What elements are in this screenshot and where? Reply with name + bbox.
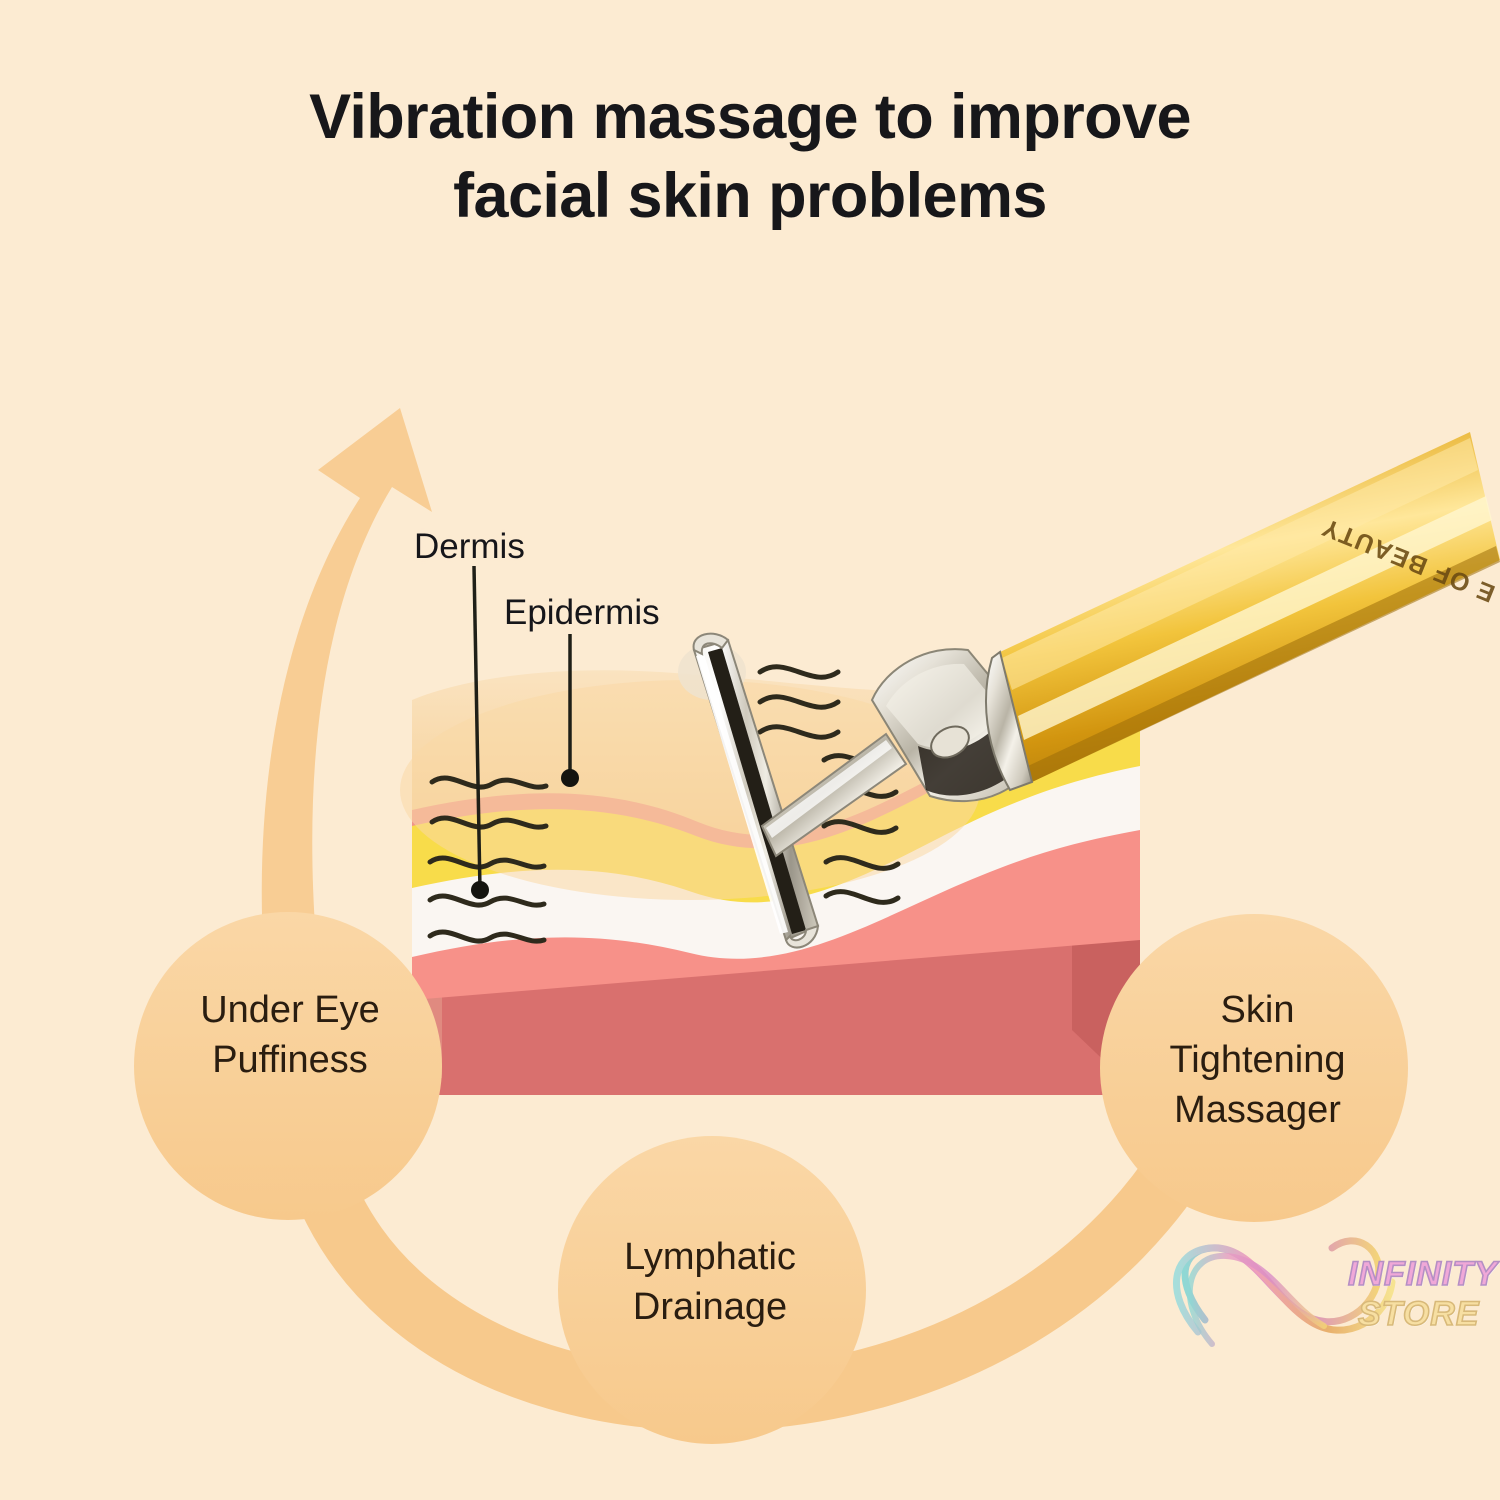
logo-word-store: STORE (1358, 1295, 1480, 1334)
illustration-canvas: Vibration massage to improve facial skin… (0, 0, 1500, 1500)
bubble-under-eye-puffiness[interactable] (134, 912, 442, 1220)
leader-dot-dermis (471, 881, 489, 899)
logo-word-infinity: INFINITY (1348, 1255, 1498, 1294)
bubble-lymphatic-drainage[interactable] (558, 1136, 866, 1444)
leader-dot-epidermis (561, 769, 579, 787)
bubble-skin-tightening-massager[interactable] (1100, 914, 1408, 1222)
brand-logo: INFINITY STORE (1180, 1245, 1480, 1375)
anatomy-label-epidermis: Epidermis (504, 593, 660, 633)
anatomy-label-dermis: Dermis (414, 527, 525, 567)
